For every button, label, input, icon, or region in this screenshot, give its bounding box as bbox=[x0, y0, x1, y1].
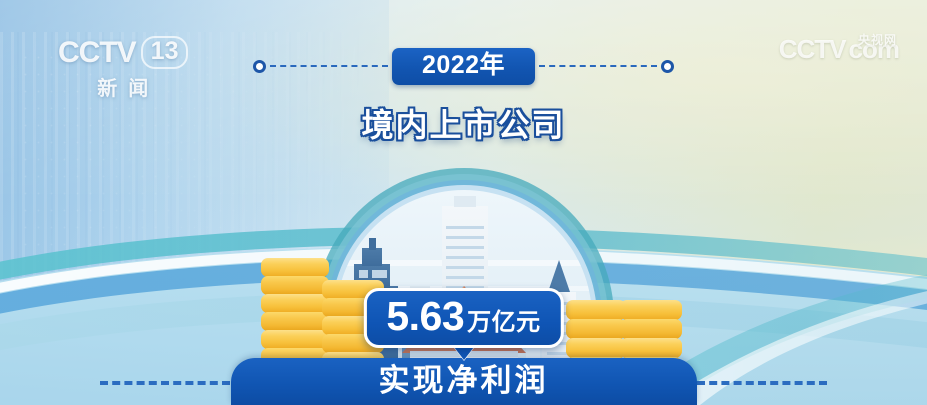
bottom-dashed-line-right bbox=[697, 381, 827, 385]
metric-caption: 实现净利润 bbox=[379, 365, 549, 398]
header-row: 2022年 bbox=[0, 46, 927, 86]
metric-unit: 万亿元 bbox=[467, 311, 541, 335]
bottom-dashed-line-left bbox=[100, 381, 230, 385]
dot-connector-icon bbox=[253, 60, 266, 73]
year-badge: 2022年 bbox=[392, 48, 535, 85]
metric-number: 5.63 bbox=[386, 296, 464, 337]
dashed-line-right bbox=[539, 65, 657, 67]
metric-caption-banner: 实现净利润 bbox=[231, 358, 697, 405]
metric-value-badge: 5.63 万亿元 bbox=[363, 288, 563, 348]
page-subtitle: 境内上市公司 bbox=[0, 100, 927, 146]
connector-left bbox=[253, 60, 392, 73]
dot-connector-icon bbox=[661, 60, 674, 73]
dashed-line-left bbox=[270, 65, 388, 67]
infographic-stage: 2022年 境内上市公司 5.63 万亿元 实现净利润 CCTV 13 新闻 C… bbox=[0, 0, 927, 405]
connector-right bbox=[535, 60, 674, 73]
